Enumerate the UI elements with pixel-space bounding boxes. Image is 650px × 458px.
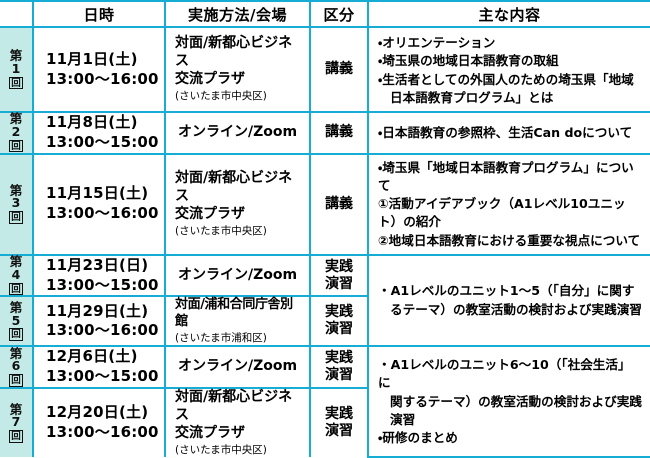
category-text: 講義 — [311, 61, 367, 78]
method-text-line2: 交流プラザ — [175, 206, 305, 224]
venue-note: (さいたま市浦和区) — [175, 332, 305, 346]
header-datetime: 日時 — [33, 1, 165, 27]
content-line: るテーマ）の教室活動の検討および実践演習 — [378, 301, 643, 319]
venue-note: (さいたま市中央区) — [175, 90, 305, 104]
time-text: 13:00〜16:00 — [46, 321, 164, 341]
time-text: 13:00〜16:00 — [46, 423, 164, 443]
datetime-cell-7: 12月20日(土) 13:00〜16:00 — [33, 388, 165, 457]
session-number-cell-1: 第 1 回 — [0, 27, 33, 112]
session-digit: 1 — [12, 63, 21, 76]
table-row: 第 6 回 12月6日(土) 13:00〜15:00 オンライン/Zoom 実践… — [0, 346, 650, 388]
table-row: 第 4 回 11月23日(日) 13:00〜15:00 オンライン/Zoom 実… — [0, 255, 650, 297]
content-cell-merged-4-5: ・A1レベルのユニット1〜5（「自分」に関す るテーマ）の教室活動の検討および実… — [368, 255, 650, 346]
content-line: ・埼玉県「地域日本語教育プログラム」について — [378, 159, 643, 196]
table-row: 第 1 回 11月1日(土) 13:00〜16:00 対面/新都心ビジネス 交流… — [0, 27, 650, 112]
table-header: 日時 実施方法/会場 区分 主な内容 — [0, 1, 650, 27]
time-text: 13:00〜15:00 — [46, 276, 164, 296]
session-suffix: 回 — [9, 283, 23, 296]
content-line: ・オリエンテーション — [378, 34, 643, 52]
header-method-venue: 実施方法/会場 — [165, 1, 310, 27]
table-row: 第 2 回 11月8日(土) 13:00〜15:00 オンライン/Zoom 講義… — [0, 112, 650, 154]
session-number-cell-2: 第 2 回 — [0, 112, 33, 154]
category-text: 実践 — [311, 304, 367, 321]
time-text: 13:00〜16:00 — [46, 204, 164, 224]
header-session — [0, 1, 33, 27]
venue-note: (さいたま市中央区) — [175, 444, 305, 458]
time-text: 13:00〜16:00 — [46, 70, 164, 90]
time-text: 13:00〜15:00 — [46, 367, 164, 387]
content-cell-merged-6-7: ・A1レベルのユニット6〜10（「社会生活」に 関するテーマ）の教室活動の検討お… — [368, 346, 650, 457]
date-text: 12月6日(土) — [46, 347, 164, 367]
method-venue-cell-5: 対面/浦和合同庁舎別館 (さいたま市浦和区) — [165, 296, 310, 346]
content-line: ・A1レベルのユニット6〜10（「社会生活」に — [378, 356, 643, 393]
session-number-cell-4: 第 4 回 — [0, 255, 33, 297]
method-venue-cell-2: オンライン/Zoom — [165, 112, 310, 154]
method-text-line2: 交流プラザ — [175, 425, 305, 443]
date-text: 11月29日(土) — [46, 302, 164, 322]
category-cell-4: 実践 演習 — [310, 255, 368, 297]
session-number-cell-5: 第 5 回 — [0, 296, 33, 346]
datetime-cell-1: 11月1日(土) 13:00〜16:00 — [33, 27, 165, 112]
session-number-stack: 第 3 回 — [0, 185, 32, 224]
content-line: 関するテーマ）の教室活動の検討および実践演習 — [378, 393, 643, 430]
session-digit: 6 — [12, 360, 21, 373]
category-cell-7: 実践 演習 — [310, 388, 368, 457]
session-digit: 4 — [12, 269, 21, 282]
header-category: 区分 — [310, 1, 368, 27]
method-text: オンライン/Zoom — [170, 358, 305, 376]
content-cell-1: ・オリエンテーション ・埼玉県の地域日本語教育の取組 ・生活者としての外国人のた… — [368, 27, 650, 112]
session-number-cell-7: 第 7 回 — [0, 388, 33, 457]
session-suffix: 回 — [9, 374, 23, 387]
session-suffix: 回 — [9, 140, 23, 153]
method-venue-cell-6: オンライン/Zoom — [165, 346, 310, 388]
session-digit: 7 — [12, 416, 21, 429]
session-number-cell-6: 第 6 回 — [0, 346, 33, 388]
category-text: 実践 — [311, 406, 367, 423]
category-cell-3: 講義 — [310, 154, 368, 255]
method-venue-cell-3: 対面/新都心ビジネス 交流プラザ (さいたま市中央区) — [165, 154, 310, 255]
table-row: 第 3 回 11月15日(土) 13:00〜16:00 対面/新都心ビジネス 交… — [0, 154, 650, 255]
content-line: ・A1レベルのユニット1〜5（「自分」に関す — [378, 282, 643, 300]
method-text: 対面/新都心ビジネス — [175, 170, 305, 206]
method-venue-cell-7: 対面/新都心ビジネス 交流プラザ (さいたま市中央区) — [165, 388, 310, 457]
datetime-cell-5: 11月29日(土) 13:00〜16:00 — [33, 296, 165, 346]
header-row: 日時 実施方法/会場 区分 主な内容 — [0, 1, 650, 27]
content-line: ・日本語教育の参照枠、生活Can doについて — [378, 124, 643, 142]
venue-note: (さいたま市中央区) — [175, 225, 305, 239]
datetime-cell-2: 11月8日(土) 13:00〜15:00 — [33, 112, 165, 154]
training-schedule-table: 日時 実施方法/会場 区分 主な内容 第 1 回 11月1日(土) 13:00〜… — [0, 0, 650, 458]
category-text-line2: 演習 — [311, 423, 367, 440]
category-cell-1: 講義 — [310, 27, 368, 112]
session-number-stack: 第 5 回 — [0, 302, 32, 341]
session-digit: 3 — [12, 197, 21, 210]
category-text-line2: 演習 — [311, 276, 367, 293]
method-text: 対面/浦和合同庁舎別館 — [175, 297, 305, 330]
session-digit: 5 — [12, 315, 21, 328]
method-text-line2: 交流プラザ — [175, 71, 305, 89]
content-line: ②地域日本語教育における重要な視点について — [378, 232, 643, 250]
category-text-line2: 演習 — [311, 367, 367, 384]
category-cell-2: 講義 — [310, 112, 368, 154]
time-text: 13:00〜15:00 — [46, 133, 164, 153]
content-cell-3: ・埼玉県「地域日本語教育プログラム」について ①活動アイデアブック（A1レベル1… — [368, 154, 650, 255]
category-text: 講義 — [311, 196, 367, 213]
category-cell-6: 実践 演習 — [310, 346, 368, 388]
session-number-stack: 第 7 回 — [0, 404, 32, 443]
date-text: 11月15日(土) — [46, 184, 164, 204]
session-digit: 2 — [12, 126, 21, 139]
category-text-line2: 演習 — [311, 321, 367, 338]
session-suffix: 回 — [9, 328, 23, 341]
method-text: オンライン/Zoom — [170, 267, 305, 285]
session-number-stack: 第 1 回 — [0, 50, 32, 89]
method-text: 対面/新都心ビジネス — [175, 35, 305, 71]
header-main-content: 主な内容 — [368, 1, 650, 27]
category-cell-5: 実践 演習 — [310, 296, 368, 346]
table-body: 第 1 回 11月1日(土) 13:00〜16:00 対面/新都心ビジネス 交流… — [0, 27, 650, 457]
content-line: ・埼玉県の地域日本語教育の取組 — [378, 52, 643, 70]
datetime-cell-6: 12月6日(土) 13:00〜15:00 — [33, 346, 165, 388]
session-number-cell-3: 第 3 回 — [0, 154, 33, 255]
method-venue-cell-4: オンライン/Zoom — [165, 255, 310, 297]
method-venue-cell-1: 対面/新都心ビジネス 交流プラザ (さいたま市中央区) — [165, 27, 310, 112]
date-text: 11月1日(土) — [46, 50, 164, 70]
date-text: 11月8日(土) — [46, 113, 164, 133]
content-cell-2: ・日本語教育の参照枠、生活Can doについて — [368, 112, 650, 154]
method-text: オンライン/Zoom — [170, 124, 305, 142]
category-text: 実践 — [311, 259, 367, 276]
date-text: 11月23日(日) — [46, 256, 164, 276]
session-suffix: 回 — [9, 77, 23, 90]
session-number-stack: 第 4 回 — [0, 256, 32, 295]
session-number-stack: 第 2 回 — [0, 113, 32, 152]
content-line: ①活動アイデアブック（A1レベル10ユニット）の紹介 — [378, 195, 643, 232]
category-text: 実践 — [311, 350, 367, 367]
category-text: 講義 — [311, 124, 367, 141]
content-line: ・研修のまとめ — [378, 429, 643, 447]
session-suffix: 回 — [9, 211, 23, 224]
date-text: 12月20日(土) — [46, 403, 164, 423]
content-line: ・生活者としての外国人のための埼玉県「地域日本語教育プログラム」とは — [378, 71, 643, 108]
method-text: 対面/新都心ビジネス — [175, 389, 305, 425]
datetime-cell-4: 11月23日(日) 13:00〜15:00 — [33, 255, 165, 297]
session-suffix: 回 — [9, 430, 23, 443]
datetime-cell-3: 11月15日(土) 13:00〜16:00 — [33, 154, 165, 255]
session-number-stack: 第 6 回 — [0, 348, 32, 387]
